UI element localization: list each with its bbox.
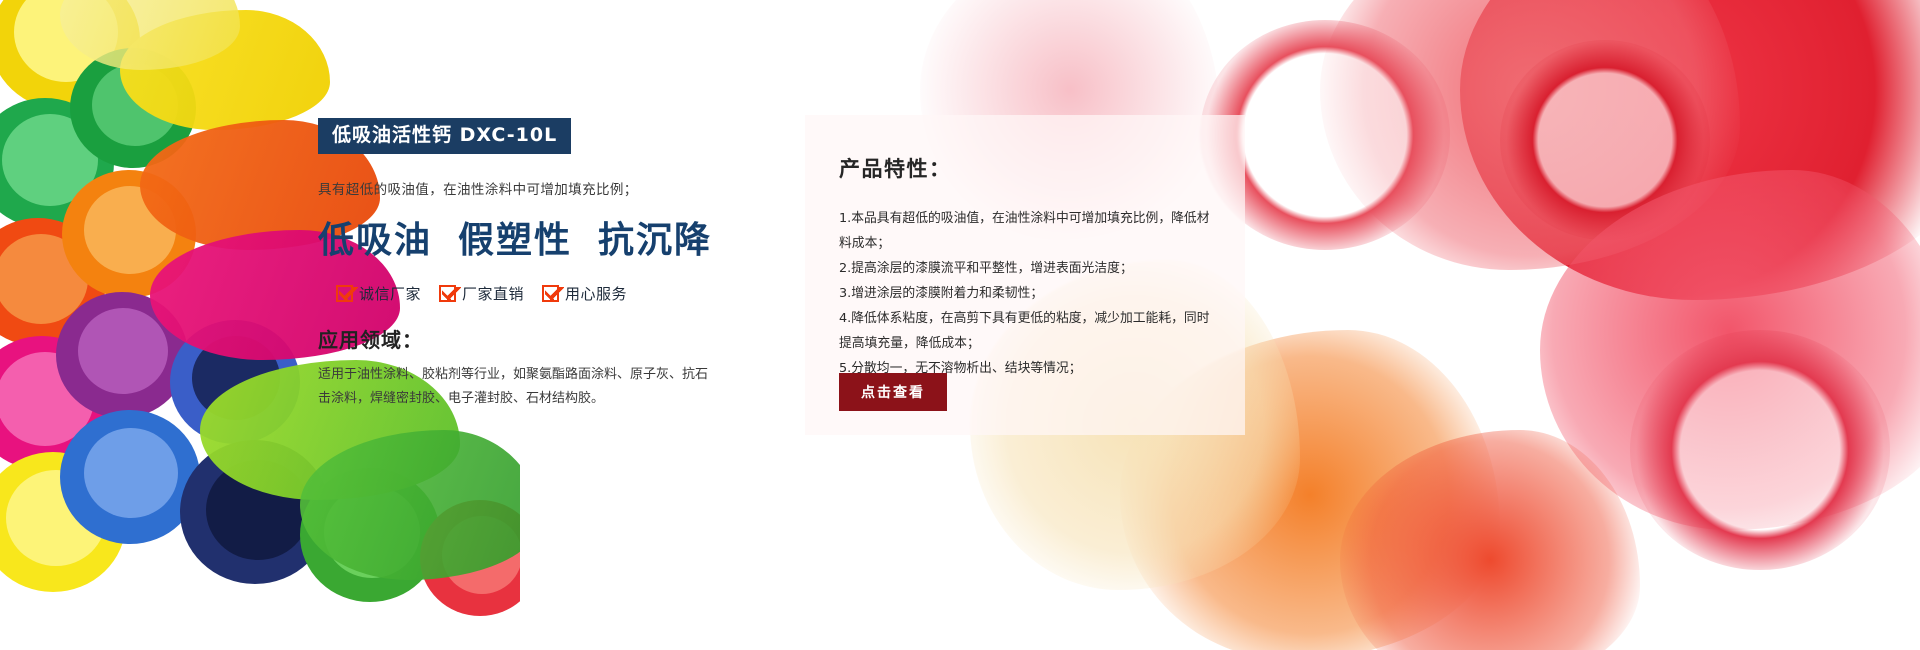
paint-ring-dish-bottom [1630,330,1890,570]
product-tag-banner: 低吸油活性钙 DXC-10L [318,118,571,154]
trust-badge-3: 用心服务 [542,283,627,304]
view-details-button[interactable]: 点击查看 [839,373,947,411]
product-features-list: 1.本品具有超低的吸油值，在油性涂料中可增加填充比例，降低材料成本； 2.提高涂… [839,207,1211,382]
headline-word-1: 低吸油 [318,219,432,261]
product-features-panel: 产品特性： 1.本品具有超低的吸油值，在油性涂料中可增加填充比例，降低材料成本；… [805,115,1245,435]
product-feature-item: 1.本品具有超低的吸油值，在油性涂料中可增加填充比例，降低材料成本； [839,207,1211,257]
left-content-column: 低吸油活性钙 DXC-10L 具有超低的吸油值，在油性涂料中可增加填充比例； 低… [318,118,718,411]
trust-badge-label: 诚信厂家 [359,283,421,304]
trust-badge-1: 诚信厂家 [336,283,421,304]
paint-ring-purple [78,308,168,394]
checkbox-checked-icon [336,285,353,302]
headline: 低吸油假塑性抗沉降 [318,211,718,263]
trust-badge-label: 用心服务 [565,283,627,304]
application-section-body: 适用于油性涂料、胶粘剂等行业，如聚氨酯路面涂料、原子灰、抗石击涂料，焊缝密封胶、… [318,363,708,411]
product-features-title: 产品特性： [839,153,1211,183]
trust-badge-2: 厂家直销 [439,283,524,304]
hero-banner: 低吸油活性钙 DXC-10L 具有超低的吸油值，在油性涂料中可增加填充比例； 低… [0,0,1920,650]
product-subtitle: 具有超低的吸油值，在油性涂料中可增加填充比例； [318,178,718,198]
checkbox-checked-icon [542,285,559,302]
product-feature-item: 4.降低体系粘度，在高剪下具有更低的粘度，减少加工能耗，同时提高填充量，降低成本… [839,307,1211,357]
paint-ring-blue [84,428,178,518]
trust-badges: 诚信厂家 厂家直销 用心服务 [336,283,718,304]
application-section-title: 应用领域： [318,324,718,353]
product-features-panel-inner: 产品特性： 1.本品具有超低的吸油值，在油性涂料中可增加填充比例，降低材料成本；… [805,115,1245,382]
trust-badge-label: 厂家直销 [462,283,524,304]
checkbox-checked-icon [439,285,456,302]
product-feature-item: 2.提高涂层的漆膜流平和平整性，增进表面光洁度； [839,257,1211,282]
headline-word-3: 抗沉降 [598,219,712,261]
headline-word-2: 假塑性 [458,219,572,261]
product-feature-item: 3.增进涂层的漆膜附着力和柔韧性； [839,282,1211,307]
